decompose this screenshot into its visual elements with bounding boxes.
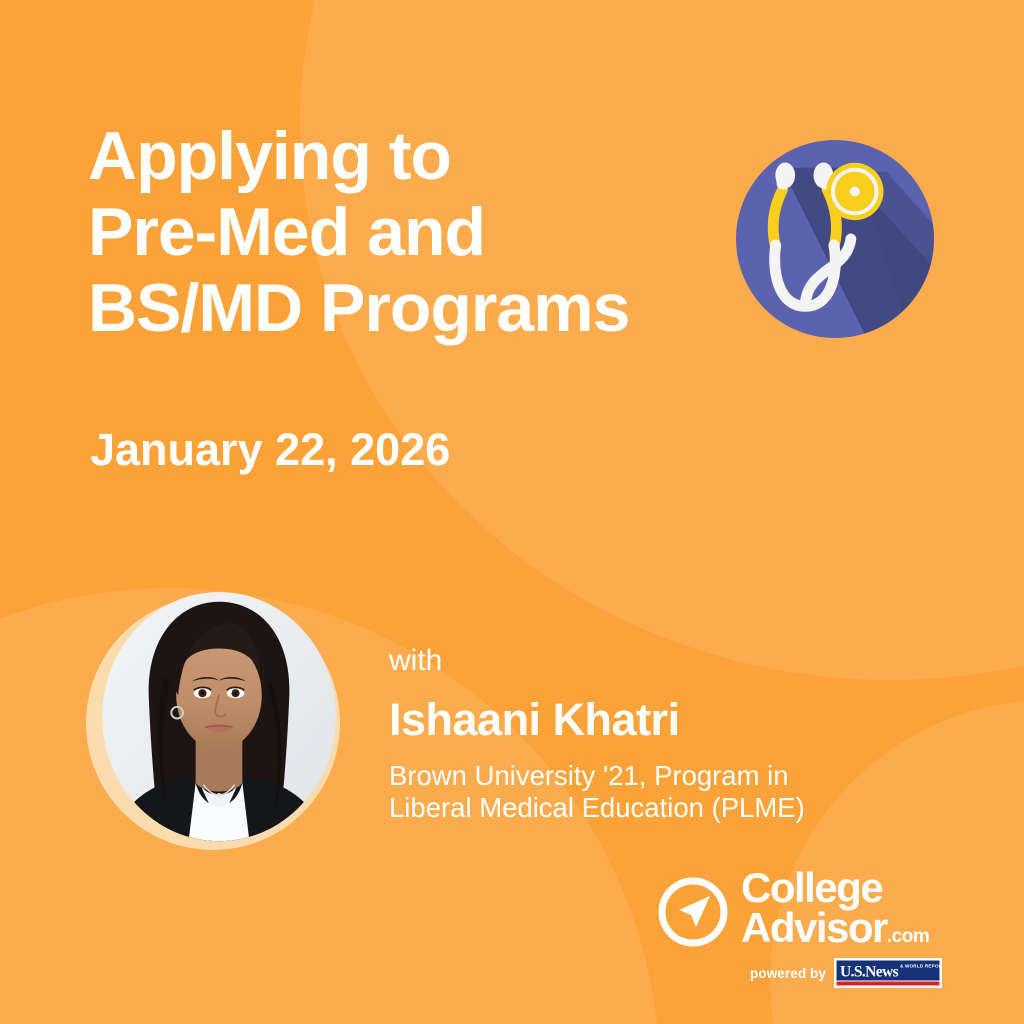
logo-line-advisor: Advisor.com — [741, 908, 929, 948]
navigation-arrow-icon — [655, 874, 731, 950]
webinar-promo-poster: Applying to Pre-Med and BS/MD Programs J… — [0, 0, 1024, 1024]
collegeadvisor-logo: College Advisor.com powered by U.S.News … — [655, 872, 945, 992]
with-label: with — [389, 644, 442, 678]
logo-dotcom-text: .com — [887, 926, 929, 947]
logo-advisor-text: Advisor — [741, 904, 887, 951]
speaker-credentials: Brown University '21, Program in Liberal… — [389, 760, 949, 825]
powered-by-label: powered by — [750, 966, 826, 981]
page-title: Applying to Pre-Med and BS/MD Programs — [88, 118, 788, 346]
speaker-name: Ishaani Khatri — [389, 694, 680, 746]
powered-by-row: powered by U.S.News & WORLD REPORT — [750, 958, 942, 988]
stethoscope-icon — [736, 140, 934, 338]
logo-wordmark: College Advisor.com — [741, 868, 929, 949]
logo-line-college: College — [741, 868, 929, 908]
svg-text:& WORLD REPORT: & WORLD REPORT — [900, 964, 942, 969]
svg-text:U.S.News: U.S.News — [840, 964, 899, 981]
event-date: January 22, 2026 — [90, 424, 450, 476]
usnews-badge: U.S.News & WORLD REPORT — [834, 958, 942, 988]
speaker-headshot — [101, 592, 337, 845]
